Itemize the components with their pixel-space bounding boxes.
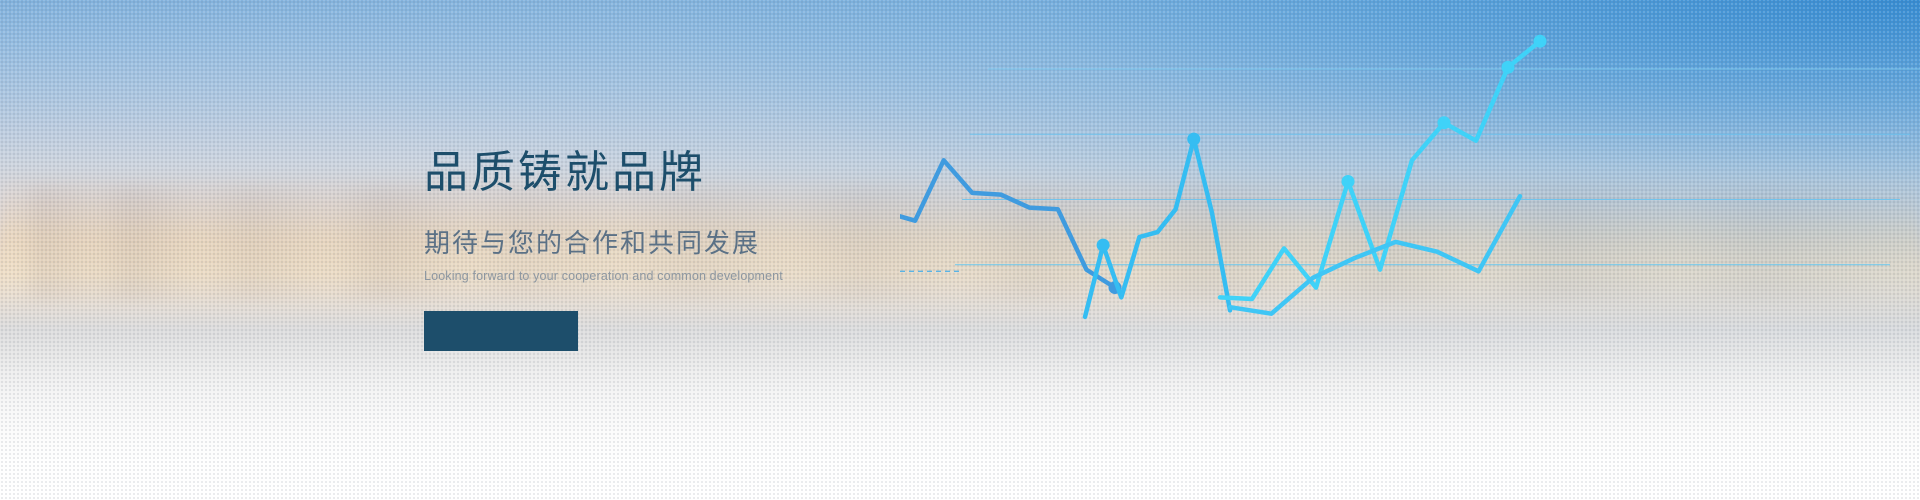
chart-point-marker bbox=[1097, 239, 1110, 252]
chart-point-marker bbox=[1502, 61, 1515, 74]
hero-banner: 品质铸就品牌 期待与您的合作和共同发展 Looking forward to y… bbox=[0, 0, 1920, 500]
chart-line-series-1 bbox=[900, 160, 1115, 287]
chart-point-marker bbox=[1534, 35, 1547, 48]
hero-cta-button[interactable] bbox=[424, 311, 578, 351]
chart-line-series-2 bbox=[1085, 139, 1230, 317]
chart-series-layer bbox=[900, 35, 1547, 317]
line-chart: 400006000080000100000 bbox=[900, 0, 1920, 500]
chart-point-marker bbox=[1187, 133, 1200, 146]
chart-svg: 400006000080000100000 bbox=[900, 0, 1920, 500]
chart-point-marker bbox=[1438, 116, 1451, 129]
chart-point-marker bbox=[1342, 175, 1355, 188]
chart-line-series-3 bbox=[1220, 41, 1540, 299]
